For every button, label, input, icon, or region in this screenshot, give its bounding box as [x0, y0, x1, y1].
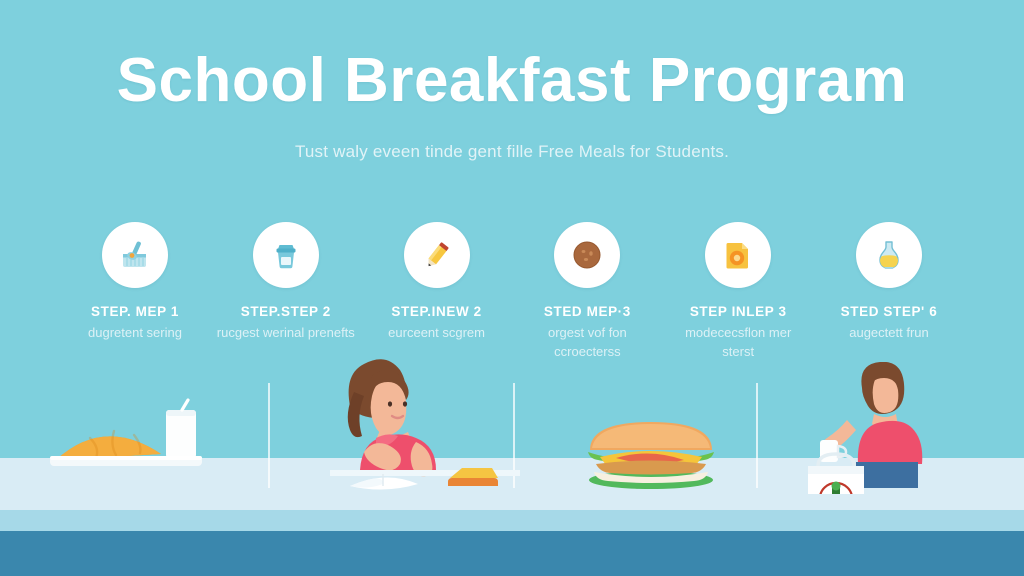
step-description: rucgest werinal prenefts [217, 324, 355, 343]
hamburger-on-green-plate-illustration [576, 414, 726, 490]
step-description: orgest vof fon ccroecterss [517, 324, 657, 362]
page-title: School Breakfast Program [0, 48, 1024, 113]
step-item-1[interactable]: STEP. MEP 1 dugretent sering [60, 222, 210, 372]
juice-bottle-icon [856, 222, 922, 288]
pencil-icon [404, 222, 470, 288]
step-label: STEP.INEW 2 [391, 304, 481, 319]
document-icon [705, 222, 771, 288]
step-label: STED STEP' 6 [841, 304, 938, 319]
mid-blue-band [0, 510, 1024, 531]
step-item-2[interactable]: STEP.STEP 2 rucgest werinal prenefts [211, 222, 361, 372]
step-label: STEP.STEP 2 [241, 304, 331, 319]
milk-carton-icon [253, 222, 319, 288]
infographic-poster: School Breakfast Program Tust waly eveen… [0, 0, 1024, 576]
step-item-3[interactable]: STEP.INEW 2 eurceent scgrem [362, 222, 512, 372]
section-divider-3 [756, 383, 758, 488]
cereal-bowl-icon [102, 222, 168, 288]
step-label: STEP. MEP 1 [91, 304, 179, 319]
bottom-blue-band [0, 531, 1024, 576]
steps-row: STEP. MEP 1 dugretent sering STEP.STEP 2… [0, 222, 1024, 372]
cookie-icon [554, 222, 620, 288]
step-item-4[interactable]: STED MEP·3 orgest vof fon ccroecterss [512, 222, 662, 372]
bread-on-tray-with-milk-cup-illustration [48, 398, 233, 490]
step-description: augectett frun [849, 324, 929, 343]
page-subtitle: Tust waly eveen tinde gent fille Free Me… [0, 142, 1024, 162]
step-label: STEP INLEP 3 [690, 304, 787, 319]
girl-studying-with-book-and-sandwich-illustration [330, 352, 520, 492]
step-label: STED MEP·3 [544, 304, 631, 319]
step-description: modececsflon mer sterst [668, 324, 808, 362]
step-description: dugretent sering [88, 324, 182, 343]
girl-packing-lunch-bag-illustration [790, 362, 940, 494]
step-item-6[interactable]: STED STEP' 6 augectett frun [814, 222, 964, 372]
section-divider-1 [268, 383, 270, 488]
step-description: eurceent scgrem [388, 324, 485, 343]
step-item-5[interactable]: STEP INLEP 3 modececsflon mer sterst [663, 222, 813, 372]
